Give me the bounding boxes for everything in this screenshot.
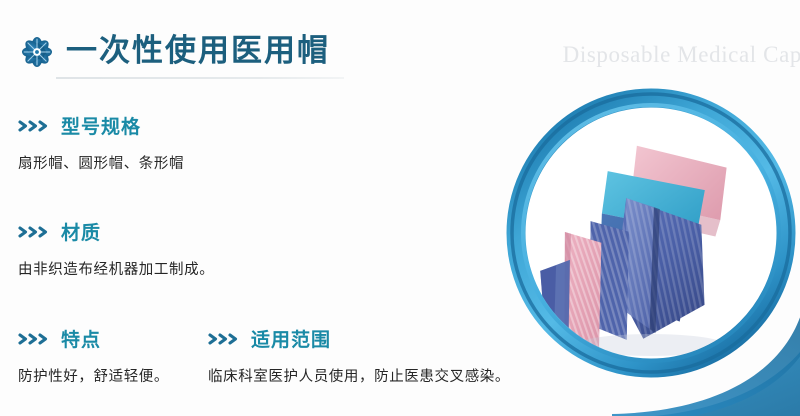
slide-page: 一次性使用医用帽 Disposable Medical Cap 型号规格 扇形帽… xyxy=(0,0,800,416)
section-scope-title: 适用范围 xyxy=(251,331,331,350)
section-feature-title: 特点 xyxy=(61,331,101,350)
section-material: 材质 由非织造布经机器加工制成。 xyxy=(18,224,214,282)
chevron-triple-svg xyxy=(18,332,52,346)
page-title: 一次性使用医用帽 xyxy=(66,30,330,72)
section-material-title: 材质 xyxy=(61,224,101,243)
section-material-header: 材质 xyxy=(18,224,214,243)
chevron-triple-icon xyxy=(18,119,52,137)
section-model-title: 型号规格 xyxy=(61,118,141,137)
chevron-triple-svg xyxy=(208,332,242,346)
section-model: 型号规格 扇形帽、圆形帽、条形帽 xyxy=(18,118,184,176)
chevron-triple-svg xyxy=(18,119,52,133)
flower-rosette-icon xyxy=(18,33,56,71)
chevron-triple-icon xyxy=(18,332,52,350)
page-title-english: Disposable Medical Cap xyxy=(563,42,800,68)
chevron-triple-svg xyxy=(18,225,52,239)
product-image-ring xyxy=(503,85,799,381)
section-material-body: 由非织造布经机器加工制成。 xyxy=(18,260,214,282)
section-scope-body: 临床科室医护人员使用，防止医患交叉感染。 xyxy=(208,367,510,389)
blue-ring-frame xyxy=(503,85,799,381)
section-feature-header: 特点 xyxy=(18,331,169,350)
section-model-header: 型号规格 xyxy=(18,118,184,137)
chevron-triple-icon xyxy=(18,225,52,243)
section-feature: 特点 防护性好，舒适轻便。 xyxy=(18,331,169,389)
page-header: 一次性使用医用帽 Disposable Medical Cap xyxy=(0,0,800,92)
title-underline xyxy=(56,77,344,79)
section-scope-header: 适用范围 xyxy=(208,331,510,350)
section-feature-body: 防护性好，舒适轻便。 xyxy=(18,367,169,389)
section-scope: 适用范围 临床科室医护人员使用，防止医患交叉感染。 xyxy=(208,331,510,389)
chevron-triple-icon xyxy=(208,332,242,350)
section-model-body: 扇形帽、圆形帽、条形帽 xyxy=(18,154,184,176)
